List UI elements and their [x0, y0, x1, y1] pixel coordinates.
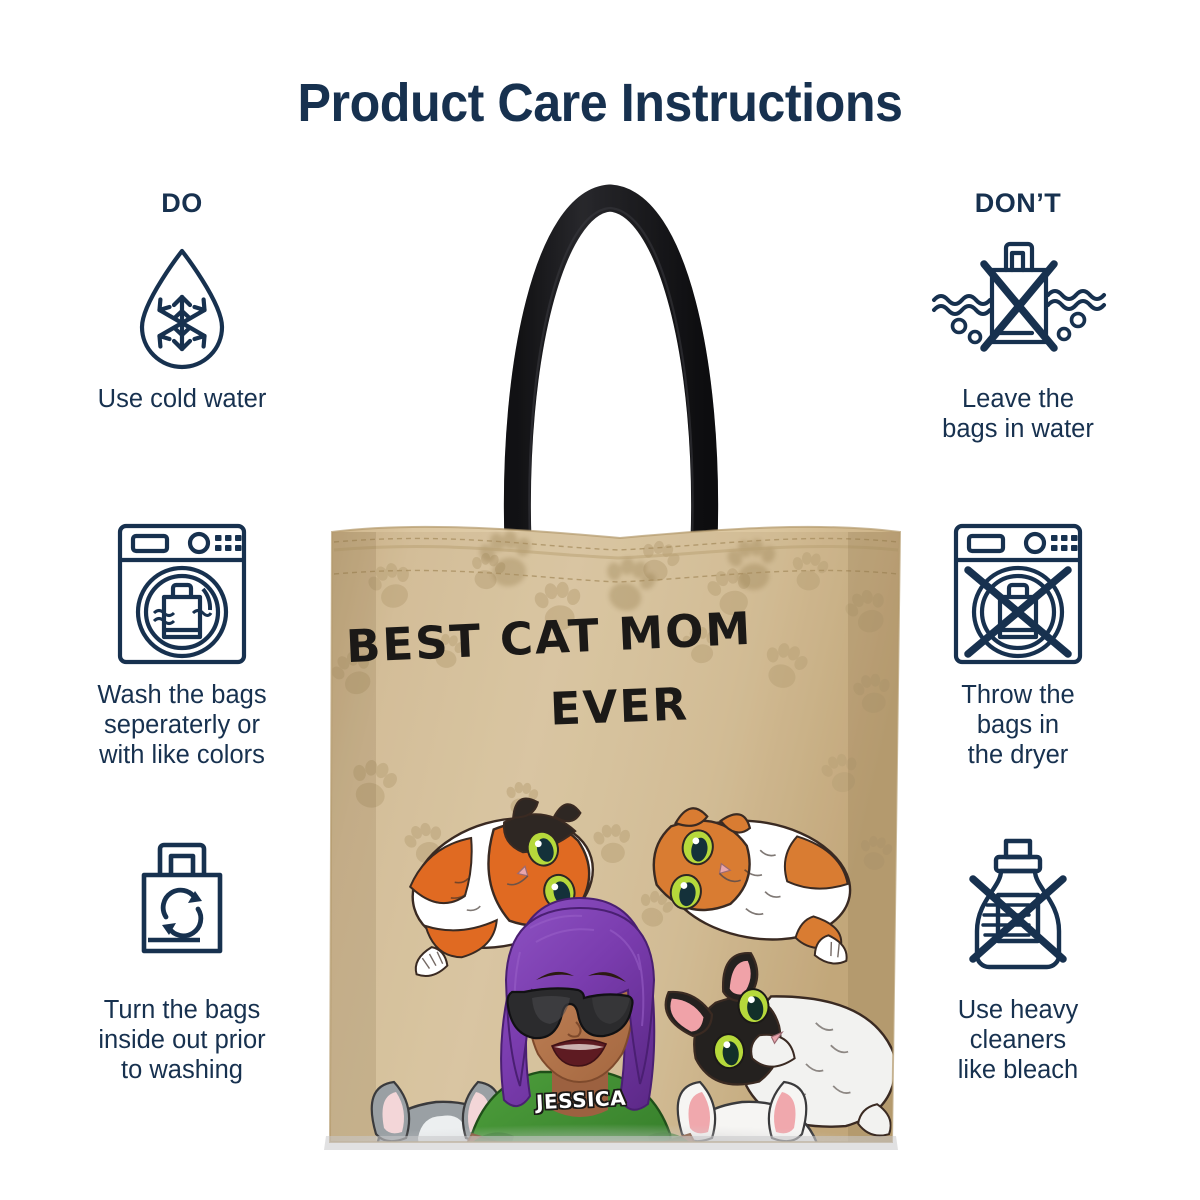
care-item-wash-separately: Wash the bags seperaterly or with like c…: [52, 530, 312, 770]
care-item-leave-in-water: Leave the bags in water: [888, 234, 1148, 444]
care-label-leave-in-water: Leave the bags in water: [888, 384, 1148, 444]
care-label-turn-inside-out: Turn the bags inside out prior to washin…: [52, 995, 312, 1085]
care-item-turn-inside-out: Turn the bags inside out prior to washin…: [52, 845, 312, 1085]
tote-bag-rotate-icon: [52, 845, 312, 985]
page-title: Product Care Instructions: [42, 72, 1158, 134]
bag-print-line-2: EVER: [549, 677, 690, 735]
care-label-wash-separately: Wash the bags seperaterly or with like c…: [52, 680, 312, 770]
bleach-bottle-crossed-icon: [888, 845, 1148, 985]
care-label-no-bleach: Use heavy cleaners like bleach: [888, 995, 1148, 1085]
dont-column: DON’T: [888, 190, 1148, 224]
care-label-use-cold-water: Use cold water: [52, 384, 312, 414]
dryer-crossed-icon: [888, 530, 1148, 670]
washing-machine-bag-icon: [52, 530, 312, 670]
shirt-personalized-name: JESSICA: [535, 1086, 626, 1115]
bag-in-water-crossed-icon: [888, 234, 1148, 374]
do-column: DO: [52, 190, 312, 224]
care-instructions-page: Product Care Instructions DO: [0, 0, 1200, 1200]
care-item-use-cold-water: Use cold water: [52, 234, 312, 414]
dont-column-heading: DON’T: [888, 190, 1148, 224]
tote-handles: [517, 198, 704, 542]
care-item-no-bleach: Use heavy cleaners like bleach: [888, 845, 1148, 1085]
water-drop-snowflake-icon: [52, 234, 312, 374]
tote-bag-product-image: BEST CAT MOM EVER JESSICA: [300, 150, 920, 1150]
care-item-no-dryer: Throw the bags in the dryer: [888, 530, 1148, 770]
care-label-no-dryer: Throw the bags in the dryer: [888, 680, 1148, 770]
do-column-heading: DO: [52, 190, 312, 224]
